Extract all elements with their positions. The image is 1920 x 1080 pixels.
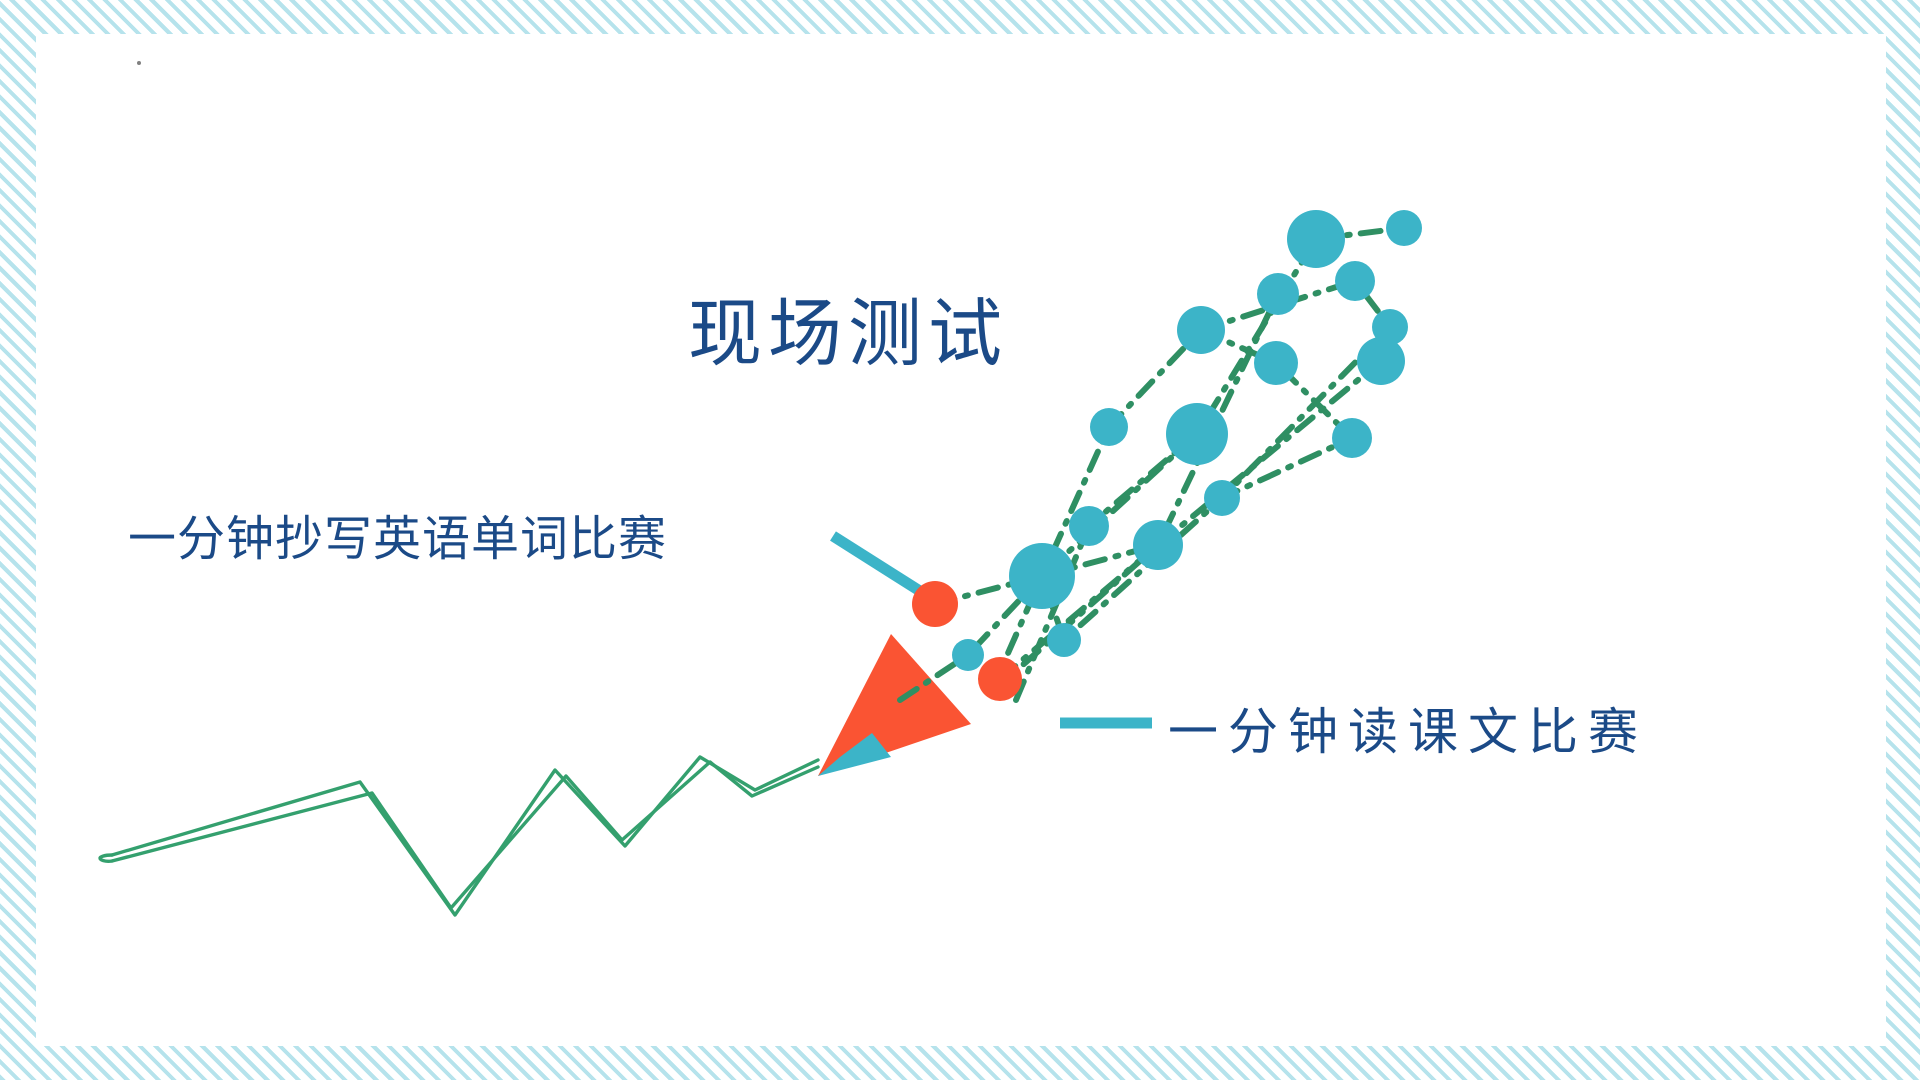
teal-leader-line: [833, 536, 923, 593]
dot: [1047, 623, 1081, 657]
dot: [1090, 408, 1128, 446]
slide-canvas: 现场测试 一分钟抄写英语单词比赛 一分钟读课文比赛: [0, 0, 1920, 1080]
dot: [1287, 210, 1345, 268]
dot: [1204, 480, 1240, 516]
pencil-tip-triangle: [818, 634, 971, 776]
dot: [1069, 506, 1109, 546]
dot: [1009, 543, 1075, 609]
dot: [1332, 418, 1372, 458]
callout-label-right: 一分钟读课文比赛: [1168, 692, 1648, 764]
dot-orange: [912, 581, 958, 627]
dot: [1133, 520, 1183, 570]
dot: [1386, 210, 1422, 246]
dot: [952, 639, 984, 671]
page-title-text: 现场测试: [688, 274, 1008, 381]
green-zigzag-trail: [100, 757, 818, 915]
dot: [1166, 403, 1228, 465]
callout-label-left: 一分钟抄写英语单词比赛: [128, 499, 667, 569]
page-title: 现场测试: [0, 274, 1920, 381]
dot-orange: [978, 657, 1022, 701]
pencil-tip-graphic: [818, 634, 971, 776]
